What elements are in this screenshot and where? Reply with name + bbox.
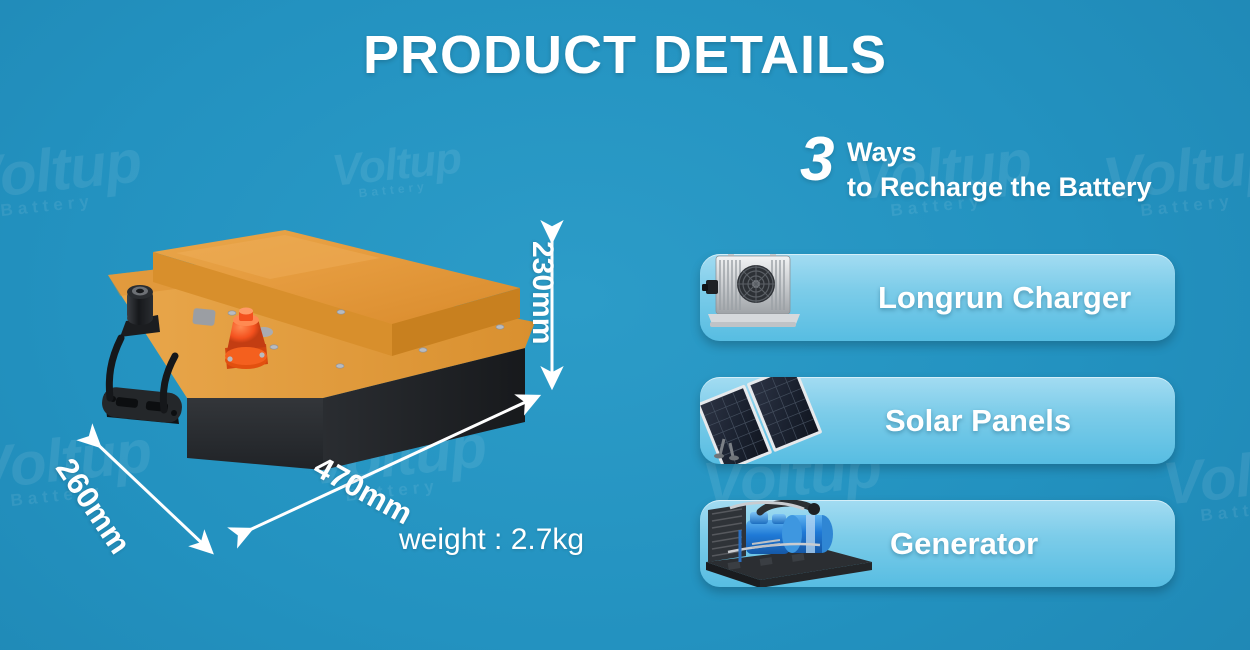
weight-label: weight : 2.7kg: [399, 523, 584, 557]
charger-icon: [700, 254, 880, 341]
height-dimension-label: 230mm: [525, 241, 559, 344]
recharge-option-label: Solar Panels: [885, 377, 1165, 464]
solar-panel-icon: [700, 377, 880, 464]
product-photo: [80, 170, 550, 470]
page-title: PRODUCT DETAILS: [0, 24, 1250, 86]
generator-icon: [700, 500, 880, 587]
recharge-heading-line2: to Recharge the Battery: [847, 174, 1152, 201]
recharge-option-generator[interactable]: Generator: [700, 500, 1175, 587]
recharge-option-label: Longrun Charger: [878, 254, 1165, 341]
product-details-banner: Voltup Battery Voltup Battery Voltup Bat…: [0, 0, 1250, 650]
recharge-count: 3: [800, 129, 834, 191]
recharge-option-longrun-charger[interactable]: Longrun Charger: [700, 254, 1175, 341]
recharge-heading-line1: Ways: [847, 139, 917, 166]
recharge-option-label: Generator: [890, 500, 1165, 587]
recharge-option-solar-panels[interactable]: Solar Panels: [700, 377, 1175, 464]
